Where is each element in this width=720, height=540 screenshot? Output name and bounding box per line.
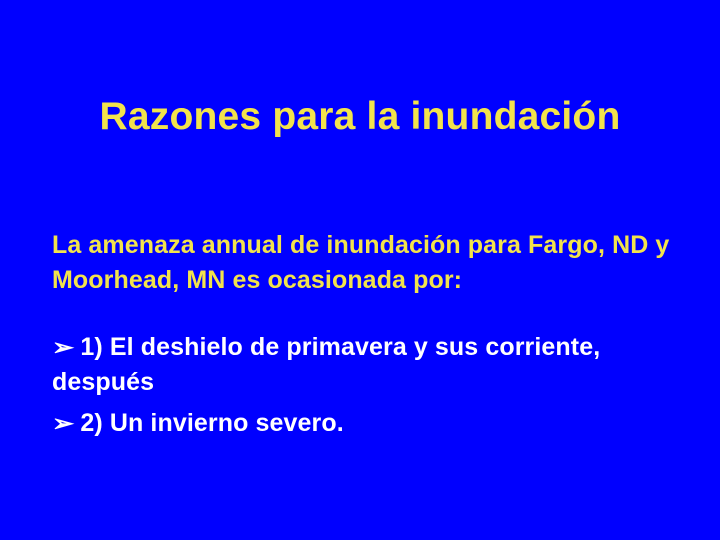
list-item-label: 2) Un invierno severo. — [80, 409, 343, 437]
presentation-slide: Razones para la inundación La amenaza an… — [0, 0, 720, 540]
bullet-list: ➢1) El deshielo de primavera y sus corri… — [52, 330, 684, 441]
intro-paragraph: La amenaza annual de inundación para Far… — [52, 228, 684, 298]
arrowhead-bullet-icon: ➢ — [52, 330, 74, 365]
page-title: Razones para la inundación — [100, 94, 621, 140]
slide-title-container: Razones para la inundación — [0, 68, 720, 166]
list-item-label: 1) El deshielo de primavera y sus corrie… — [52, 333, 600, 396]
list-item: ➢1) El deshielo de primavera y sus corri… — [52, 330, 684, 400]
arrowhead-bullet-icon: ➢ — [52, 406, 74, 441]
slide-body-container: La amenaza annual de inundación para Far… — [52, 228, 684, 441]
list-item: ➢2) Un invierno severo. — [52, 406, 684, 441]
